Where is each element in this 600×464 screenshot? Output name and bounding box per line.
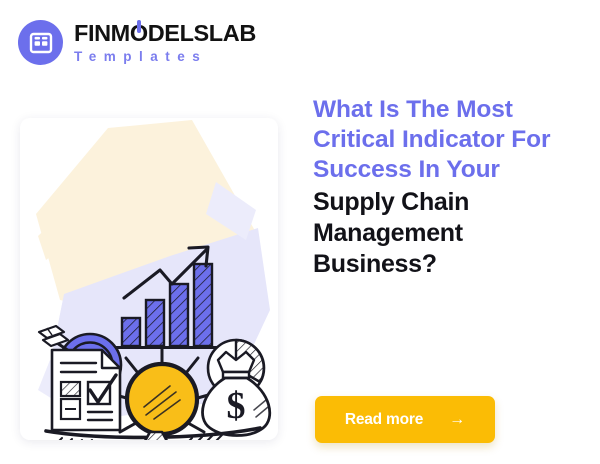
- brand-text-block: FINMODELSLAB Templates: [74, 22, 256, 64]
- svg-text:$: $: [227, 385, 246, 427]
- read-more-label: Read more: [345, 411, 423, 429]
- brand-wordmark-part1: FINM: [74, 20, 130, 46]
- brand-wordmark-part2: DELSLAB: [148, 20, 256, 46]
- illustration-card: $: [20, 118, 278, 440]
- brand-wordmark-o: O: [130, 22, 148, 46]
- arrow-right-icon: →: [449, 412, 465, 428]
- brand-logo[interactable]: FINMODELSLAB Templates: [18, 20, 256, 65]
- business-success-illustration: $: [20, 118, 278, 440]
- power-pin-icon: [137, 20, 141, 33]
- read-more-button[interactable]: Read more →: [315, 396, 495, 443]
- brand-wordmark: FINMODELSLAB: [74, 22, 256, 46]
- headline-accent: What Is The Most Critical Indicator For …: [313, 95, 593, 185]
- promo-banner: FINMODELSLAB Templates: [0, 0, 600, 464]
- headline-main: Supply Chain Management Business?: [313, 187, 593, 280]
- checklist-document-icon: [52, 350, 120, 430]
- brand-tagline: Templates: [74, 50, 256, 64]
- grid-squares-icon: [18, 20, 63, 65]
- copy-block: What Is The Most Critical Indicator For …: [313, 95, 593, 280]
